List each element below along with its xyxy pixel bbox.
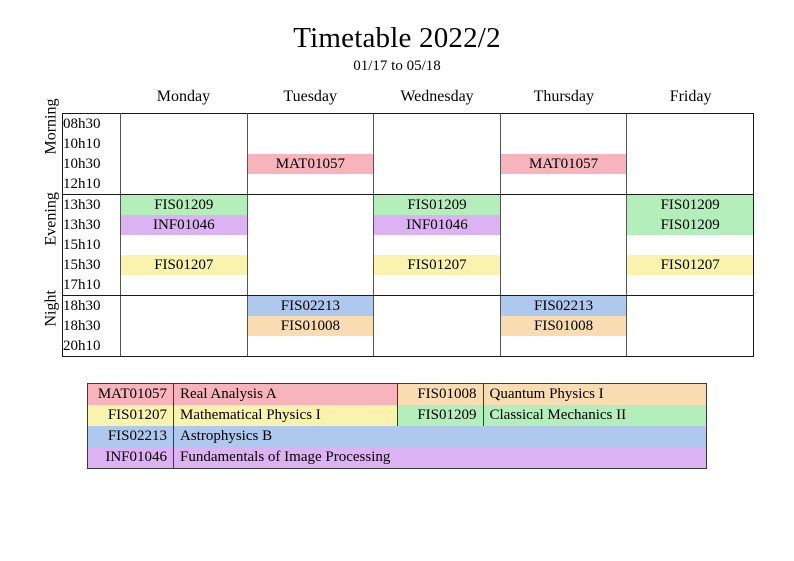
empty-slot: [500, 215, 627, 235]
timetable-row: Night18h30FIS02213FIS02213: [40, 295, 754, 316]
legend-row: FIS02213Astrophysics B: [88, 426, 707, 447]
time-label: 13h30: [63, 194, 121, 215]
timetable-row: 10h30MAT01057MAT01057: [40, 154, 754, 174]
time-label: 17h10: [63, 275, 121, 296]
date-range: 01/17 to 05/18: [0, 56, 794, 76]
course-slot-FIS01207: FIS01207: [374, 255, 501, 275]
empty-slot: [121, 336, 248, 357]
empty-slot: [121, 113, 248, 134]
timetable-row: 17h10: [40, 275, 754, 296]
legend-name-FIS02213: Astrophysics B: [174, 426, 707, 447]
legend-code-INF01046: INF01046: [88, 447, 174, 469]
empty-slot: [374, 174, 501, 195]
legend-row: INF01046Fundamentals of Image Processing: [88, 447, 707, 469]
time-label: 08h30: [63, 113, 121, 134]
day-header-wednesday: Wednesday: [374, 87, 501, 111]
empty-slot: [627, 174, 754, 195]
empty-slot: [121, 134, 248, 154]
empty-slot: [247, 134, 374, 154]
timetable-row: Evening13h30FIS01209FIS01209FIS01209: [40, 194, 754, 215]
empty-slot: [500, 113, 627, 134]
empty-slot: [500, 336, 627, 357]
course-block: MAT01057: [501, 154, 627, 174]
course-block: FIS01008: [248, 316, 374, 336]
empty-slot: [247, 215, 374, 235]
course-slot-FIS01207: FIS01207: [627, 255, 754, 275]
time-label: 18h30: [63, 316, 121, 336]
empty-slot: [627, 316, 754, 336]
empty-slot: [121, 275, 248, 296]
time-label: 12h10: [63, 174, 121, 195]
course-block: FIS01209: [627, 215, 753, 235]
empty-slot: [374, 295, 501, 316]
course-block: MAT01057: [248, 154, 374, 174]
section-label-morning: Morning: [40, 113, 63, 194]
time-label: 13h30: [63, 215, 121, 235]
course-slot-FIS01209: FIS01209: [627, 215, 754, 235]
empty-slot: [247, 113, 374, 134]
empty-slot: [121, 154, 248, 174]
timetable-row: Morning08h30: [40, 113, 754, 134]
course-slot-FIS02213: FIS02213: [247, 295, 374, 316]
timetable-row: 13h30INF01046INF01046FIS01209: [40, 215, 754, 235]
empty-slot: [374, 316, 501, 336]
time-label: 10h30: [63, 154, 121, 174]
timetable-row: 15h10: [40, 235, 754, 255]
legend-name-FIS01209: Classical Mechanics II: [483, 405, 707, 426]
empty-slot: [627, 295, 754, 316]
section-label-text: Night: [42, 325, 60, 326]
course-block: FIS01207: [627, 255, 753, 275]
course-slot-MAT01057: MAT01057: [247, 154, 374, 174]
empty-slot: [374, 275, 501, 296]
legend-code-FIS01209: FIS01209: [397, 405, 483, 426]
time-label: 15h30: [63, 255, 121, 275]
timetable-row: 15h30FIS01207FIS01207FIS01207: [40, 255, 754, 275]
empty-slot: [500, 134, 627, 154]
timetable-grid-wrapper: MondayTuesdayWednesdayThursdayFriday Mor…: [40, 87, 754, 357]
section-label-text: Morning: [42, 153, 60, 154]
page-title: Timetable 2022/2: [0, 22, 794, 54]
timetable-row: 10h10: [40, 134, 754, 154]
course-block: FIS02213: [501, 296, 627, 316]
course-block: FIS01209: [627, 195, 753, 215]
day-header-row: MondayTuesdayWednesdayThursdayFriday: [40, 87, 754, 111]
course-slot-FIS01008: FIS01008: [500, 316, 627, 336]
course-slot-INF01046: INF01046: [121, 215, 248, 235]
course-block: FIS01207: [374, 255, 500, 275]
time-label: 10h10: [63, 134, 121, 154]
empty-slot: [374, 336, 501, 357]
empty-slot: [121, 235, 248, 255]
course-slot-FIS01008: FIS01008: [247, 316, 374, 336]
course-block: FIS01209: [374, 195, 500, 215]
section-label-evening: Evening: [40, 194, 63, 295]
section-label-night: Night: [40, 295, 63, 356]
title-block: Timetable 2022/2 01/17 to 05/18: [0, 0, 794, 77]
empty-slot: [374, 113, 501, 134]
empty-slot: [247, 235, 374, 255]
empty-slot: [500, 275, 627, 296]
course-block: INF01046: [121, 215, 247, 235]
timetable-row: 12h10: [40, 174, 754, 195]
time-label: 20h10: [63, 336, 121, 357]
empty-slot: [121, 316, 248, 336]
course-slot-FIS01209: FIS01209: [627, 194, 754, 215]
empty-slot: [500, 174, 627, 195]
empty-slot: [374, 134, 501, 154]
empty-slot: [627, 275, 754, 296]
legend-name-INF01046: Fundamentals of Image Processing: [174, 447, 707, 469]
timetable-row: 20h10: [40, 336, 754, 357]
legend-code-FIS01207: FIS01207: [88, 405, 174, 426]
empty-slot: [247, 194, 374, 215]
day-header-monday: Monday: [120, 87, 247, 111]
empty-slot: [121, 174, 248, 195]
legend-row: FIS01207Mathematical Physics IFIS01209Cl…: [88, 405, 707, 426]
day-header-tuesday: Tuesday: [247, 87, 374, 111]
empty-slot: [374, 235, 501, 255]
legend-row: MAT01057Real Analysis AFIS01008Quantum P…: [88, 383, 707, 405]
timetable: Morning08h3010h1010h30MAT01057MAT0105712…: [40, 113, 754, 357]
time-label: 15h10: [63, 235, 121, 255]
empty-slot: [500, 255, 627, 275]
legend-code-FIS02213: FIS02213: [88, 426, 174, 447]
course-slot-FIS02213: FIS02213: [500, 295, 627, 316]
empty-slot: [121, 295, 248, 316]
course-slot-MAT01057: MAT01057: [500, 154, 627, 174]
empty-slot: [500, 194, 627, 215]
time-label: 18h30: [63, 295, 121, 316]
legend-wrapper: MAT01057Real Analysis AFIS01008Quantum P…: [87, 383, 707, 469]
course-legend: MAT01057Real Analysis AFIS01008Quantum P…: [87, 383, 707, 469]
legend-name-FIS01008: Quantum Physics I: [483, 383, 707, 405]
course-slot-FIS01207: FIS01207: [121, 255, 248, 275]
course-slot-FIS01209: FIS01209: [121, 194, 248, 215]
empty-slot: [627, 336, 754, 357]
empty-slot: [247, 255, 374, 275]
empty-slot: [500, 235, 627, 255]
legend-name-FIS01207: Mathematical Physics I: [174, 405, 398, 426]
legend-code-FIS01008: FIS01008: [397, 383, 483, 405]
empty-slot: [627, 113, 754, 134]
empty-slot: [627, 134, 754, 154]
empty-slot: [247, 174, 374, 195]
course-block: FIS01207: [121, 255, 247, 275]
timetable-row: 18h30FIS01008FIS01008: [40, 316, 754, 336]
empty-slot: [627, 235, 754, 255]
empty-slot: [247, 275, 374, 296]
course-slot-INF01046: INF01046: [374, 215, 501, 235]
empty-slot: [247, 336, 374, 357]
course-block: INF01046: [374, 215, 500, 235]
course-block: FIS01209: [121, 195, 247, 215]
legend-code-MAT01057: MAT01057: [88, 383, 174, 405]
course-block: FIS02213: [248, 296, 374, 316]
empty-slot: [627, 154, 754, 174]
course-slot-FIS01209: FIS01209: [374, 194, 501, 215]
legend-name-MAT01057: Real Analysis A: [174, 383, 398, 405]
empty-slot: [374, 154, 501, 174]
day-header-thursday: Thursday: [500, 87, 627, 111]
section-label-text: Evening: [42, 244, 60, 245]
day-header-friday: Friday: [627, 87, 754, 111]
course-block: FIS01008: [501, 316, 627, 336]
